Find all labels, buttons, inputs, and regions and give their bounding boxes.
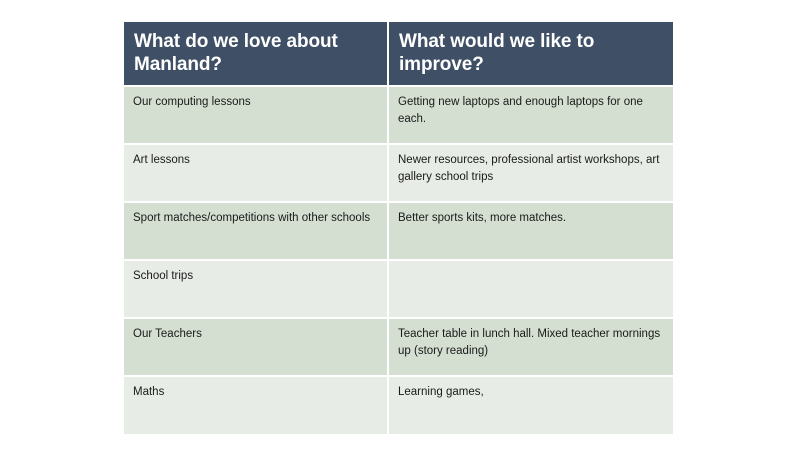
cell-love: Our Teachers xyxy=(124,318,388,376)
column-header-love: What do we love about Manland? xyxy=(124,22,388,86)
feedback-table: What do we love about Manland? What woul… xyxy=(124,22,673,434)
cell-love: Art lessons xyxy=(124,144,388,202)
cell-love: Maths xyxy=(124,376,388,434)
cell-improve: Teacher table in lunch hall. Mixed teach… xyxy=(388,318,673,376)
table-header: What do we love about Manland? What woul… xyxy=(124,22,673,86)
cell-improve: Better sports kits, more matches. xyxy=(388,202,673,260)
cell-improve: Getting new laptops and enough laptops f… xyxy=(388,86,673,144)
table-body: Our computing lessons Getting new laptop… xyxy=(124,86,673,434)
table-row: Art lessons Newer resources, professiona… xyxy=(124,144,673,202)
cell-improve: Learning games, xyxy=(388,376,673,434)
cell-improve: Newer resources, professional artist wor… xyxy=(388,144,673,202)
column-header-improve: What would we like to improve? xyxy=(388,22,673,86)
table-row: School trips xyxy=(124,260,673,318)
slide-canvas: What do we love about Manland? What woul… xyxy=(0,0,800,450)
table-row: Maths Learning games, xyxy=(124,376,673,434)
cell-love: Our computing lessons xyxy=(124,86,388,144)
cell-love: Sport matches/competitions with other sc… xyxy=(124,202,388,260)
table-row: Our computing lessons Getting new laptop… xyxy=(124,86,673,144)
cell-love: School trips xyxy=(124,260,388,318)
table-row: Sport matches/competitions with other sc… xyxy=(124,202,673,260)
header-row: What do we love about Manland? What woul… xyxy=(124,22,673,86)
cell-improve xyxy=(388,260,673,318)
table-row: Our Teachers Teacher table in lunch hall… xyxy=(124,318,673,376)
